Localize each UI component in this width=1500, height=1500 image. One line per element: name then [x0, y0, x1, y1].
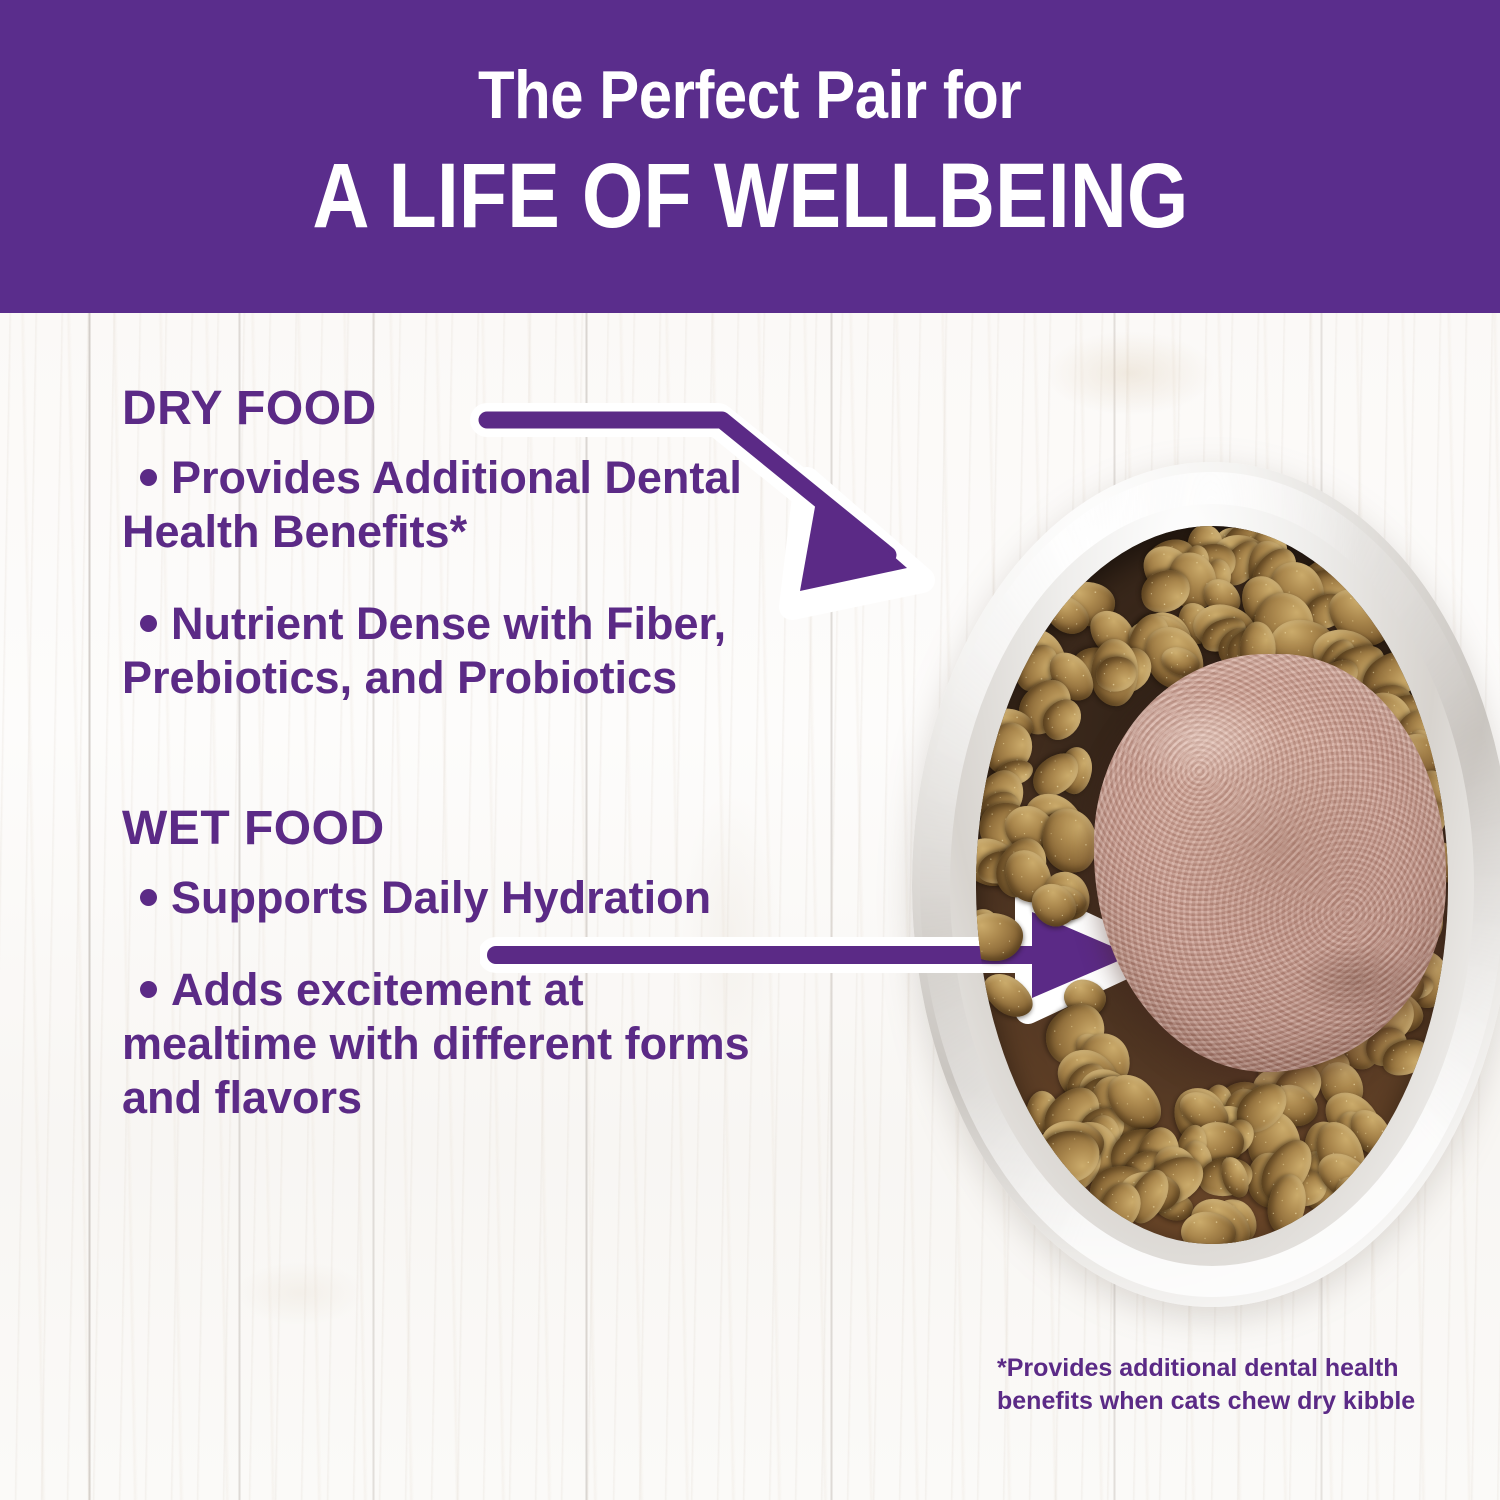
wet-food-section: WET FOOD Supports Daily Hydration Adds e… — [122, 805, 842, 1125]
bullet-text: Provides Additional Dental Health Benefi… — [122, 452, 742, 557]
wet-food-bullet-list: Supports Daily Hydration Adds excitement… — [122, 871, 842, 1125]
infographic-canvas: The Perfect Pair for A LIFE OF WELLBEING… — [0, 0, 1500, 1500]
bullet-text: Adds excitement at mealtime with differe… — [122, 964, 750, 1123]
bullet-dot-icon — [140, 889, 157, 906]
bullet-dot-icon — [140, 981, 157, 998]
wet-food-heading: WET FOOD — [122, 805, 842, 853]
kibble-piece — [976, 913, 1023, 962]
benefits-text-column: DRY FOOD Provides Additional Dental Heal… — [122, 385, 842, 1125]
bowl-cavity — [976, 526, 1448, 1244]
list-item: Adds excitement at mealtime with differe… — [122, 963, 762, 1125]
footnote-text: *Provides additional dental health benef… — [997, 1352, 1437, 1417]
bullet-text: Supports Daily Hydration — [171, 872, 711, 923]
list-item: Supports Daily Hydration — [122, 871, 762, 925]
list-item: Provides Additional Dental Health Benefi… — [122, 451, 762, 559]
bullet-text: Nutrient Dense with Fiber, Prebiotics, a… — [122, 598, 726, 703]
wet-food-pate — [1094, 654, 1446, 1072]
header-title: A LIFE OF WELLBEING — [312, 148, 1188, 245]
dry-food-heading: DRY FOOD — [122, 385, 842, 433]
list-item: Nutrient Dense with Fiber, Prebiotics, a… — [122, 597, 762, 705]
header-subtitle: The Perfect Pair for — [478, 61, 1021, 130]
header-banner: The Perfect Pair for A LIFE OF WELLBEING — [0, 0, 1500, 313]
dry-food-section: DRY FOOD Provides Additional Dental Heal… — [122, 385, 842, 705]
dry-food-bullet-list: Provides Additional Dental Health Benefi… — [122, 451, 842, 705]
bullet-dot-icon — [140, 469, 157, 486]
cat-food-bowl-image — [912, 462, 1500, 1307]
bullet-dot-icon — [140, 615, 157, 632]
